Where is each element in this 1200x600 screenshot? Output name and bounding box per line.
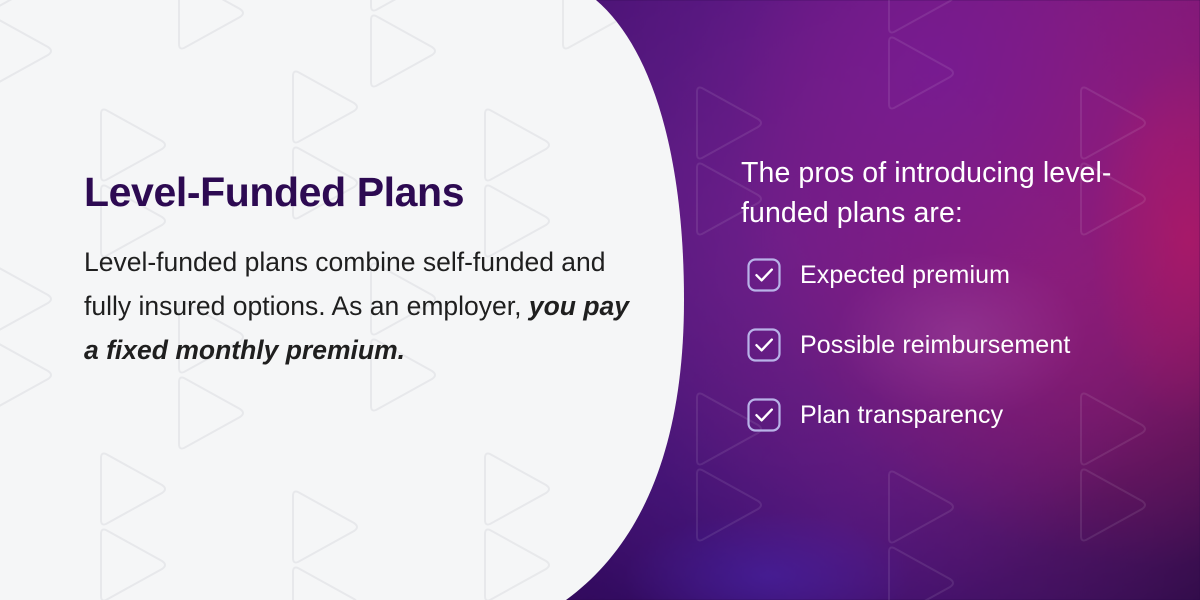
list-item-label: Plan transparency: [800, 401, 1003, 430]
list-item-label: Expected premium: [800, 261, 1010, 290]
left-panel-content: Level-Funded Plans Level-funded plans co…: [84, 172, 644, 372]
body-lead-text: Level-funded plans combine self-funded a…: [84, 247, 606, 321]
checkbox-checked-icon: [747, 328, 781, 362]
list-item: Plan transparency: [741, 398, 1181, 432]
body-description: Level-funded plans combine self-funded a…: [84, 240, 644, 372]
list-item-label: Possible reimbursement: [800, 331, 1070, 360]
list-item: Possible reimbursement: [741, 328, 1181, 362]
checkbox-checked-icon: [747, 258, 781, 292]
checkbox-checked-icon: [747, 398, 781, 432]
infographic-canvas: Level-Funded Plans Level-funded plans co…: [0, 0, 1200, 600]
pros-list: Expected premium Possible reimbursement: [741, 258, 1181, 432]
page-title: Level-Funded Plans: [84, 172, 644, 213]
list-item: Expected premium: [741, 258, 1181, 292]
pros-heading: The pros of introducing level-funded pla…: [741, 153, 1181, 233]
right-panel-content: The pros of introducing level-funded pla…: [741, 153, 1181, 432]
